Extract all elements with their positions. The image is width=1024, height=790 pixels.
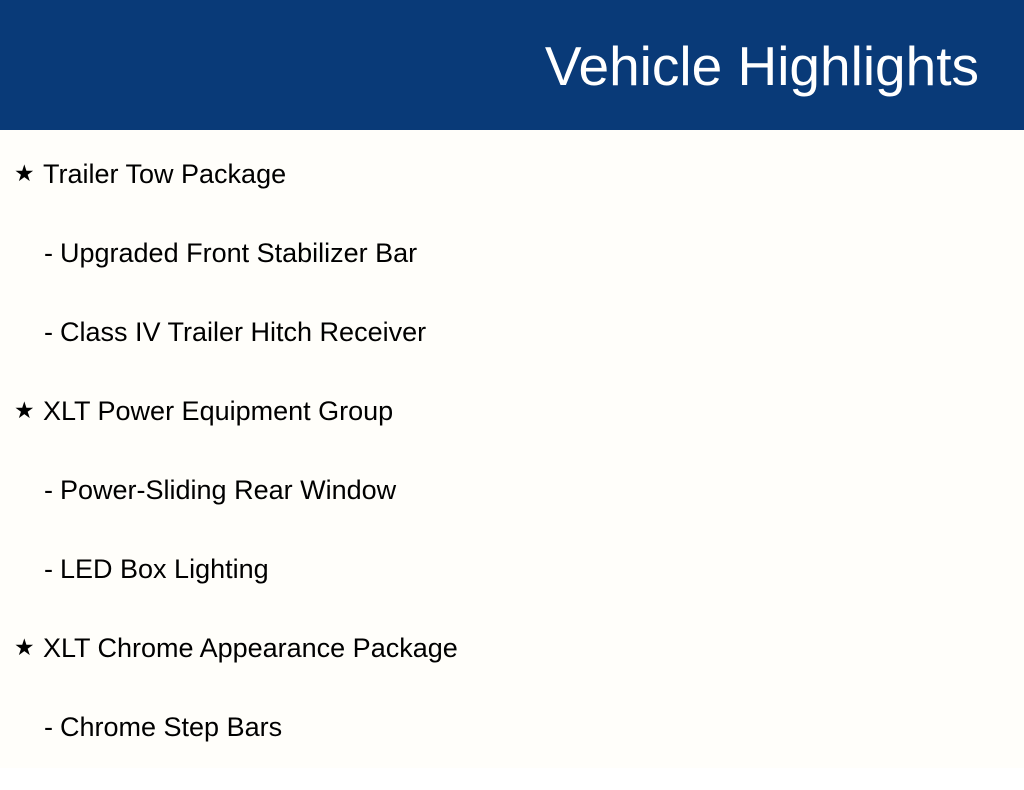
star-bullet-icon: ★ (14, 399, 43, 422)
list-item-label: Class IV Trailer Hitch Receiver (60, 316, 426, 348)
page-title: Vehicle Highlights (545, 38, 979, 96)
dash-bullet-icon: - (44, 477, 60, 504)
list-item-label: Power-Sliding Rear Window (60, 474, 396, 506)
bullet-list: ★ Trailer Tow Package - Upgraded Front S… (0, 130, 1024, 790)
list-item: ★ Trailer Tow Package (0, 130, 1024, 237)
list-item-label: Chrome Step Bars (60, 711, 282, 743)
dash-bullet-icon: - (44, 714, 60, 741)
list-item-label: Trailer Tow Package (43, 158, 286, 190)
list-item: - Chrome Step Bars (0, 711, 1024, 790)
slide-header-band: Vehicle Highlights (0, 0, 1024, 130)
list-item: ★ XLT Chrome Appearance Package (0, 632, 1024, 711)
star-bullet-icon: ★ (14, 162, 43, 185)
dash-bullet-icon: - (44, 240, 60, 267)
list-item: - Power-Sliding Rear Window (0, 474, 1024, 553)
star-bullet-icon: ★ (14, 636, 43, 659)
list-item-label: XLT Chrome Appearance Package (43, 632, 458, 664)
list-item: - Class IV Trailer Hitch Receiver (0, 316, 1024, 395)
list-item-label: XLT Power Equipment Group (43, 395, 393, 427)
slide-body: ★ Trailer Tow Package - Upgraded Front S… (0, 130, 1024, 768)
dash-bullet-icon: - (44, 556, 60, 583)
dash-bullet-icon: - (44, 319, 60, 346)
list-item: - LED Box Lighting (0, 553, 1024, 632)
list-item: ★ XLT Power Equipment Group (0, 395, 1024, 474)
list-item: - Upgraded Front Stabilizer Bar (0, 237, 1024, 316)
list-item-label: Upgraded Front Stabilizer Bar (60, 237, 417, 269)
list-item-label: LED Box Lighting (60, 553, 269, 585)
slide: Vehicle Highlights ★ Trailer Tow Package… (0, 0, 1024, 768)
